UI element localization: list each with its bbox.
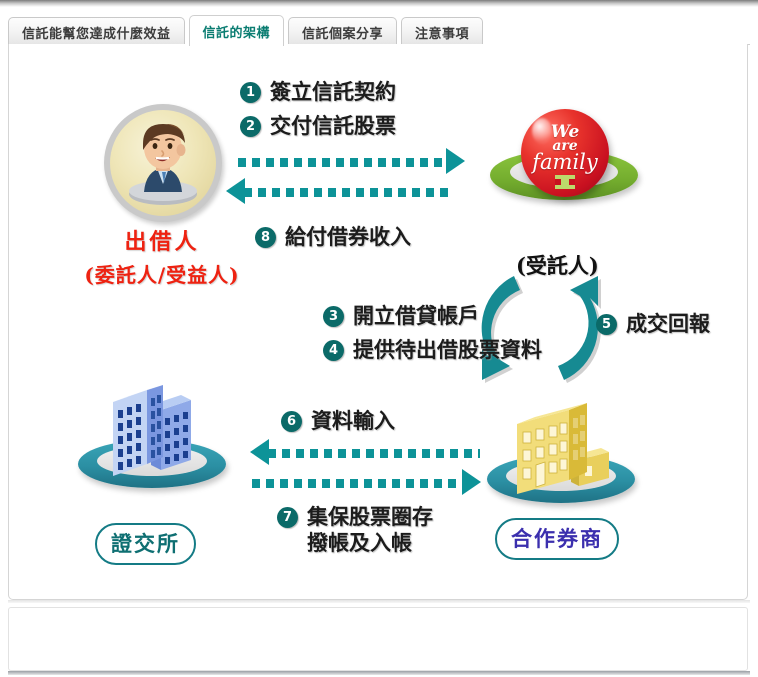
- step-4: 4 提供待出借股票資料: [323, 338, 542, 363]
- trust-structure-diagram: 出借人 (委託人/受益人) We are family (受託人) 1: [0, 0, 758, 677]
- lender-label-line2: (委託人/受益人): [52, 259, 272, 288]
- step-8-badge: 8: [255, 227, 276, 248]
- arrow-head-left-icon: [226, 178, 245, 204]
- logo-text-family: family: [521, 152, 609, 173]
- step-5: 5 成交回報: [596, 312, 710, 337]
- step-8-label: 給付借券收入: [285, 225, 411, 250]
- arrow-line: [238, 158, 448, 167]
- arrow-head-left-icon: [250, 439, 269, 465]
- step-7-label-line2: 撥帳及入帳: [307, 531, 433, 555]
- lender-avatar: [104, 104, 222, 222]
- step-6-label: 資料輸入: [311, 409, 395, 434]
- arrow-head-right-icon: [462, 469, 481, 495]
- step-2-badge: 2: [240, 116, 261, 137]
- step-5-badge: 5: [596, 314, 617, 335]
- step-6: 6 資料輸入: [281, 409, 395, 434]
- person-avatar-icon: [110, 110, 216, 216]
- step-8: 8 給付借券收入: [255, 225, 411, 250]
- page-root: 信託能幫您達成什麼效益 信託的架構 信託個案分享 注意事項: [0, 0, 758, 677]
- lender-label-line1: 出借人: [52, 224, 272, 256]
- step-3: 3 開立借貸帳戶: [323, 304, 479, 329]
- step-3-label: 開立借貸帳戶: [353, 304, 479, 329]
- tab-structure-label: 信託的架構: [203, 22, 271, 41]
- step-7-badge: 7: [277, 507, 298, 528]
- office-building-svg: [505, 398, 625, 498]
- arrow-head-right-icon: [446, 148, 465, 174]
- arrow-line: [252, 479, 464, 488]
- step-2-label: 交付信託股票: [270, 114, 396, 139]
- logo-mark-icon: [555, 175, 575, 189]
- skyscraper-icon: [95, 378, 215, 492]
- office-building-icon: [505, 398, 625, 502]
- step-6-badge: 6: [281, 411, 302, 432]
- step-7-label: 集保股票圈存: [307, 505, 433, 529]
- tab-structure[interactable]: 信託的架構: [189, 15, 285, 46]
- step-3-badge: 3: [323, 306, 344, 327]
- step-4-badge: 4: [323, 340, 344, 361]
- skyscraper-svg: [95, 378, 215, 488]
- arrow-line: [268, 449, 480, 458]
- red-sphere-logo-icon: We are family: [521, 109, 609, 197]
- step-4-label: 提供待出借股票資料: [353, 338, 542, 363]
- step-7-row1: 7 集保股票圈存: [277, 505, 433, 529]
- step-2: 2 交付信託股票: [240, 114, 396, 139]
- arrow-line: [244, 188, 454, 197]
- broker-label: 合作券商: [495, 518, 619, 560]
- person-avatar-svg: [110, 110, 216, 216]
- step-7: 7 集保股票圈存 撥帳及入帳: [277, 505, 433, 555]
- step-5-label: 成交回報: [626, 312, 710, 337]
- step-1: 1 簽立信託契約: [240, 80, 396, 105]
- exchange-label: 證交所: [95, 523, 196, 565]
- step-1-badge: 1: [240, 82, 261, 103]
- lender-label: 出借人 (委託人/受益人): [52, 224, 272, 288]
- step-1-label: 簽立信託契約: [270, 80, 396, 105]
